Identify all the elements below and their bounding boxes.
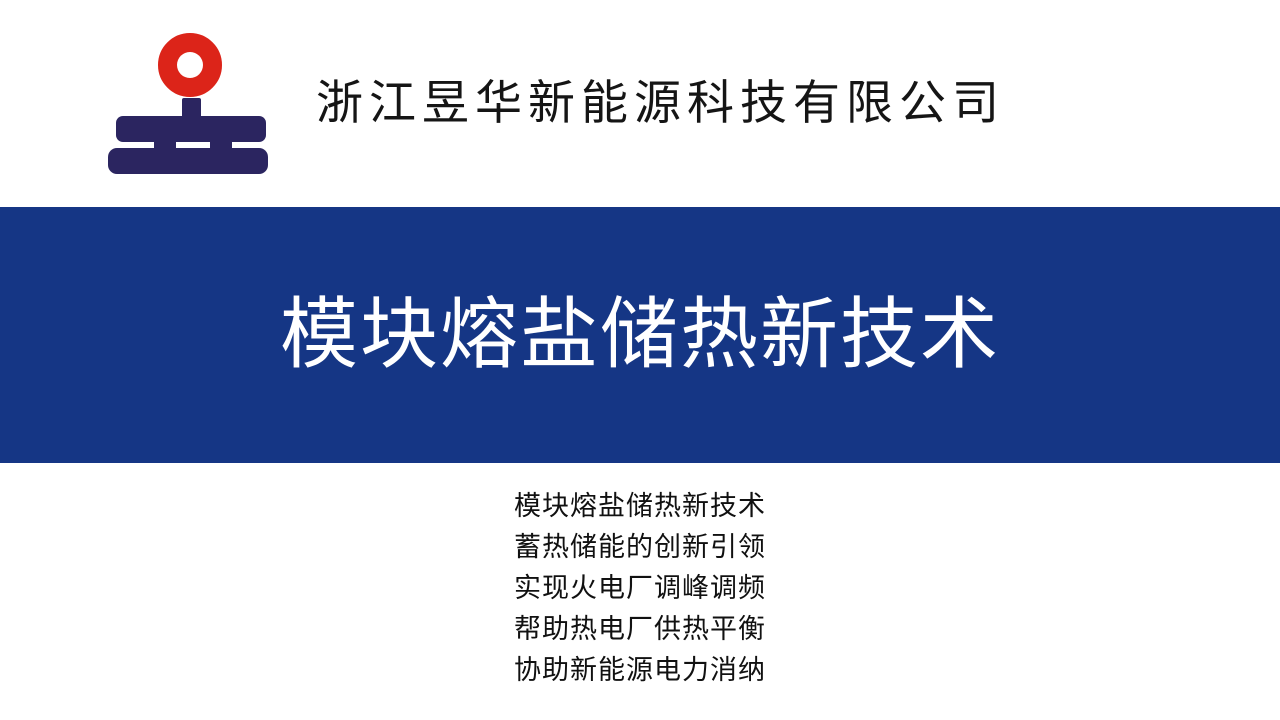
tagline-list: 模块熔盐储热新技术 蓄热储能的创新引领 实现火电厂调峰调频 帮助热电厂供热平衡 … (0, 486, 1280, 691)
company-logo (108, 28, 268, 178)
tagline-item: 协助新能源电力消纳 (0, 650, 1280, 691)
presentation-slide: 浙江昱华新能源科技有限公司 模块熔盐储热新技术 模块熔盐储热新技术 蓄热储能的创… (0, 0, 1280, 720)
tagline-item: 帮助热电厂供热平衡 (0, 609, 1280, 650)
logo-red-ring-icon (158, 33, 222, 97)
tagline-item: 蓄热储能的创新引领 (0, 527, 1280, 568)
logo-ring-hole (177, 52, 203, 78)
tagline-item: 模块熔盐储热新技术 (0, 486, 1280, 527)
logo-base-bar (108, 148, 268, 174)
company-name: 浙江昱华新能源科技有限公司 (316, 76, 1005, 132)
title-banner: 模块熔盐储热新技术 (0, 207, 1280, 463)
tagline-item: 实现火电厂调峰调频 (0, 568, 1280, 609)
slide-title: 模块熔盐储热新技术 (280, 287, 1000, 383)
logo-top-bar (116, 116, 266, 142)
slide-header: 浙江昱华新能源科技有限公司 (0, 0, 1280, 207)
